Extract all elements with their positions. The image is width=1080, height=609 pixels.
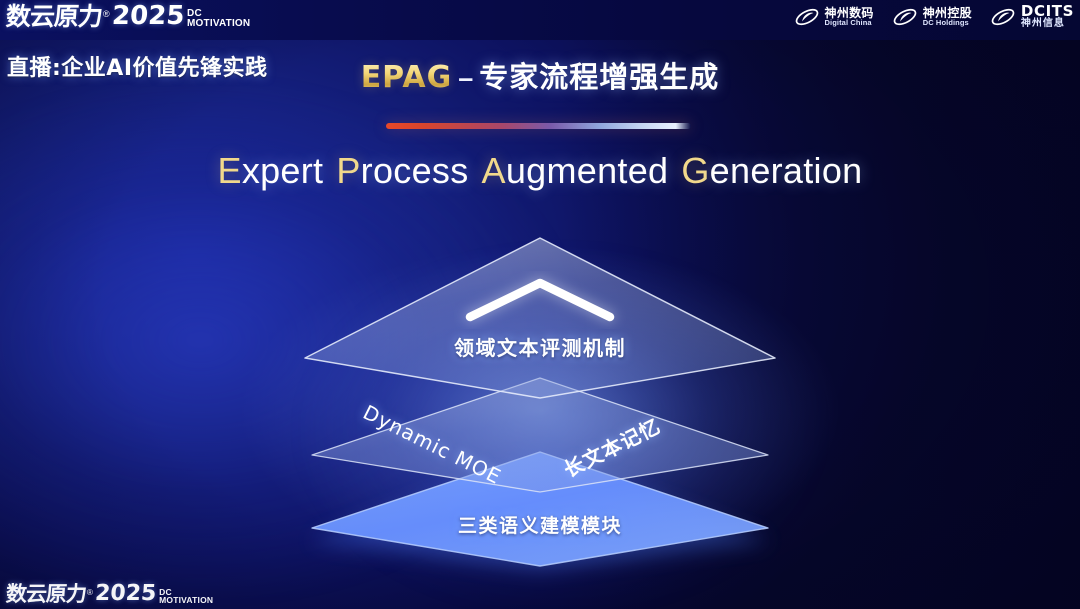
watermark-registered-mark: ® [87, 588, 93, 597]
slide-root: 数云原力 ® 2025 DC MOTIVATION 直播:企业AI价值先锋实践 … [0, 0, 1080, 609]
watermark-year: 2025 [94, 583, 157, 605]
watermark-dc-motivation: DC MOTIVATION [159, 588, 213, 604]
watermark-logo: 数云原力 ® 2025 DC MOTIVATION [6, 3, 1070, 605]
watermark-name-cn: 数云原力 [5, 584, 86, 605]
watermark-dc-line2: MOTIVATION [159, 596, 213, 604]
